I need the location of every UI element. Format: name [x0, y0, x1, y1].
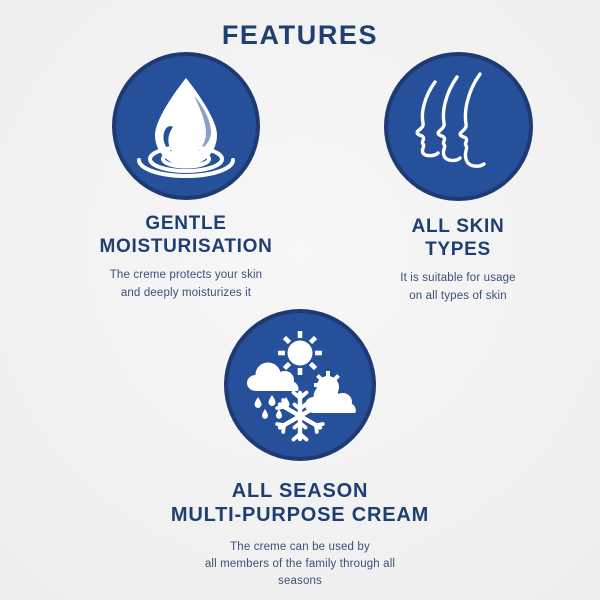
icon-circle-wrapper	[46, 56, 326, 196]
feature-heading: GENTLE MOISTURISATION	[46, 212, 326, 258]
features-infographic: FEATURES	[0, 0, 600, 600]
feature-heading-line-2: MULTI-PURPOSE CREAM	[150, 503, 450, 527]
feature-heading-line-2: MOISTURISATION	[46, 235, 326, 258]
feature-description-line-2: and deeply moisturizes it	[46, 285, 326, 302]
feature-description-line-2: on all types of skin	[333, 288, 583, 305]
feature-heading: ALL SKIN TYPES	[333, 215, 583, 261]
icon-circle-wrapper	[150, 313, 450, 457]
feature-card-all-season-multi-purpose-cream: ALL SEASON MULTI-PURPOSE CREAM The creme…	[150, 313, 450, 591]
feature-description: It is suitable for usage on all types of…	[333, 270, 583, 305]
feature-description: The creme can be used by all members of …	[150, 539, 450, 591]
feature-heading: ALL SEASON MULTI-PURPOSE CREAM	[150, 479, 450, 528]
feature-description-line-1: It is suitable for usage	[333, 270, 583, 287]
feature-icon-circle	[116, 56, 256, 196]
feature-card-all-skin-types: ALL SKIN TYPES It is suitable for usage …	[333, 56, 583, 305]
icon-circle-wrapper	[333, 56, 583, 197]
feature-heading-line-1: ALL SKIN	[333, 215, 583, 238]
water-droplet-ripple-icon	[134, 72, 238, 180]
feature-icon-circle	[388, 56, 529, 197]
three-face-profiles-icon	[404, 71, 512, 183]
page-title: FEATURES	[0, 20, 600, 51]
feature-icon-circle	[228, 313, 372, 457]
feature-heading-line-1: GENTLE	[46, 212, 326, 235]
feature-description-line-2: all members of the family through all	[150, 556, 450, 573]
feature-description-line-1: The creme protects your skin	[46, 267, 326, 284]
all-weather-seasons-icon	[242, 327, 358, 443]
feature-description: The creme protects your skin and deeply …	[46, 267, 326, 302]
feature-description-line-1: The creme can be used by	[150, 539, 450, 556]
feature-heading-line-2: TYPES	[333, 238, 583, 261]
feature-heading-line-1: ALL SEASON	[150, 479, 450, 503]
feature-description-line-3: seasons	[150, 573, 450, 590]
feature-card-gentle-moisturisation: GENTLE MOISTURISATION The creme protects…	[46, 56, 326, 302]
